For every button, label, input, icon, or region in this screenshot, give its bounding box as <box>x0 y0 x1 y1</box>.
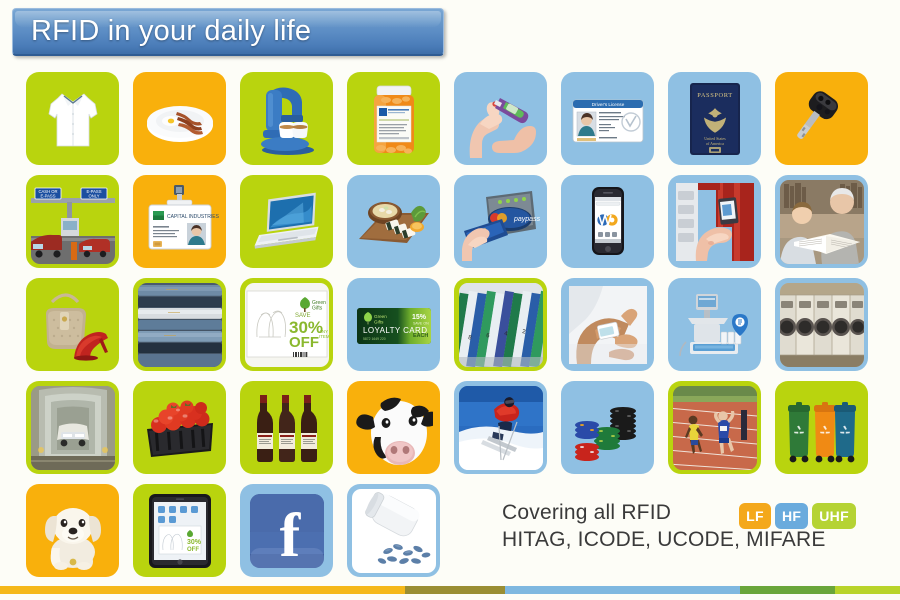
tile-white-dress-shirt[interactable] <box>26 72 119 165</box>
blood-glucose-meter-icon <box>462 80 540 158</box>
frequency-badge-row: LF HF UHF <box>739 503 856 529</box>
tile-laundromat-washers[interactable] <box>775 278 868 371</box>
passport-booklet-icon: PASSPORT United States of America <box>676 80 754 158</box>
phone-transit-gate-icon <box>676 183 754 261</box>
svg-text:30%: 30% <box>187 539 202 546</box>
tile-nfc-smartphone[interactable] <box>561 175 654 268</box>
handbag-and-heel-icon <box>34 286 112 364</box>
tile-patient-wristband[interactable] <box>561 278 654 371</box>
svg-text:OFF: OFF <box>289 334 319 351</box>
recycling-wheelie-bins-icon <box>783 389 861 467</box>
tile-facebook-logo[interactable]: f <box>240 484 333 577</box>
automatic-car-wash-photo <box>31 386 115 470</box>
tile-tomato-produce-crate[interactable] <box>133 381 226 474</box>
lab-reader-instrument-icon <box>676 286 754 364</box>
tile-sushi-meal-tray[interactable] <box>347 175 440 268</box>
tile-archive-file-shelving[interactable]: 8 6 4 2 <box>454 278 547 371</box>
tile-contactless-payment-terminal[interactable]: paypass <box>454 175 547 268</box>
tile-casino-chip-stacks[interactable] <box>561 381 654 474</box>
track-race-finish-photo <box>673 386 757 470</box>
puppy-pet-icon <box>34 492 112 570</box>
page-title: RFID in your daily life <box>31 15 311 48</box>
tile-drivers-license-card[interactable]: Driver's License <box>561 72 654 165</box>
svg-text:PASSPORT: PASSPORT <box>697 92 732 99</box>
badge-hf[interactable]: HF <box>775 503 808 529</box>
patient-wristband-icon <box>569 286 647 364</box>
tile-passport-booklet[interactable]: PASSPORT United States of America <box>668 72 761 165</box>
svg-text:f: f <box>279 502 301 570</box>
stripe-segment-lime <box>835 586 900 594</box>
svg-text:of America: of America <box>706 141 724 146</box>
car-key-fob-icon <box>783 80 861 158</box>
white-dress-shirt-icon <box>34 80 112 158</box>
coffee-pod-machine-icon <box>248 80 326 158</box>
archive-file-shelving-photo: 8 6 4 2 <box>459 283 543 367</box>
svg-text:Gifts: Gifts <box>374 319 384 324</box>
svg-text:5872 1649 220: 5872 1649 220 <box>363 337 386 341</box>
svg-text:Driver's License: Driver's License <box>591 102 624 107</box>
svg-text:EACH: EACH <box>413 333 428 339</box>
employee-id-badge-icon: CAPITAL INDUSTRIES <box>141 183 219 261</box>
tile-stacked-jeans[interactable] <box>133 278 226 371</box>
tile-car-key-fob[interactable] <box>775 72 868 165</box>
contactless-payment-terminal-icon: paypass <box>462 183 540 261</box>
bottom-color-stripe <box>0 586 900 594</box>
stripe-segment-green <box>740 586 835 594</box>
svg-text:CAPITAL INDUSTRIES: CAPITAL INDUSTRIES <box>167 214 219 220</box>
downhill-skier-photo <box>459 386 543 470</box>
tile-recycling-wheelie-bins[interactable] <box>775 381 868 474</box>
sushi-meal-tray-icon <box>355 183 433 261</box>
tile-laptop-computer[interactable] <box>240 175 333 268</box>
thirty-percent-off-coupon-image: Green Gifts SAVE 30% OFF ANY ITEM <box>245 283 329 367</box>
svg-text:paypass: paypass <box>513 216 540 223</box>
tile-loyalty-card[interactable]: Green Gifts LOYALTY CARD 15% SAVE ON EAC… <box>347 278 440 371</box>
badge-uhf[interactable]: UHF <box>812 503 856 529</box>
tile-bacon-and-eggs-breakfast[interactable] <box>133 72 226 165</box>
page-title-banner: RFID in your daily life <box>12 8 444 56</box>
tile-prescription-pill-bottle[interactable] <box>347 72 440 165</box>
stripe-segment-blue <box>505 586 740 594</box>
facebook-logo-icon: f <box>248 492 326 570</box>
laundromat-washers-photo <box>780 283 864 367</box>
library-reading-pair-photo <box>780 180 864 264</box>
casino-chip-stacks-icon <box>569 389 647 467</box>
spilled-pill-bottle-photo <box>352 489 436 573</box>
tile-lab-reader-instrument[interactable] <box>668 278 761 371</box>
bacon-and-eggs-breakfast-icon <box>141 80 219 158</box>
stripe-segment-olive <box>405 586 505 594</box>
laptop-computer-icon <box>248 183 326 261</box>
tile-automatic-car-wash[interactable] <box>26 381 119 474</box>
drivers-license-card-icon: Driver's License <box>569 80 647 158</box>
tile-thirty-percent-off-coupon[interactable]: Green Gifts SAVE 30% OFF ANY ITEM <box>240 278 333 371</box>
tile-tablet-device[interactable]: 30% OFF <box>133 484 226 577</box>
wine-bottles-icon <box>248 389 326 467</box>
toll-booth-epass-photo: CASH OR E-PASS E-PASS ONLY <box>31 180 115 264</box>
tile-toll-booth-epass[interactable]: CASH OR E-PASS E-PASS ONLY <box>26 175 119 268</box>
tile-employee-id-badge[interactable]: CAPITAL INDUSTRIES <box>133 175 226 268</box>
tablet-device-icon: 30% OFF <box>141 492 219 570</box>
svg-text:15%: 15% <box>412 314 427 321</box>
tile-wine-bottles[interactable] <box>240 381 333 474</box>
tile-spilled-pill-bottle[interactable] <box>347 484 440 577</box>
nfc-smartphone-icon <box>569 183 647 261</box>
tile-dairy-cow[interactable] <box>347 381 440 474</box>
tile-handbag-and-heel[interactable] <box>26 278 119 371</box>
svg-text:ITEM: ITEM <box>319 334 329 339</box>
stripe-segment-amber <box>0 586 405 594</box>
prescription-pill-bottle-icon <box>355 80 433 158</box>
badge-lf[interactable]: LF <box>739 503 771 529</box>
tile-library-reading-pair[interactable] <box>775 175 868 268</box>
caption-line-protocols: HITAG, ICODE, UCODE, MIFARE <box>502 526 872 553</box>
svg-text:Gifts: Gifts <box>312 305 323 311</box>
tile-track-race-finish[interactable] <box>668 381 761 474</box>
tile-coffee-pod-machine[interactable] <box>240 72 333 165</box>
loyalty-card-icon: Green Gifts LOYALTY CARD 15% SAVE ON EAC… <box>355 286 433 364</box>
svg-text:E-PASS: E-PASS <box>40 193 55 198</box>
svg-text:ONLY: ONLY <box>88 193 99 198</box>
tile-downhill-skier[interactable] <box>454 381 547 474</box>
tomato-produce-crate-icon <box>141 389 219 467</box>
stacked-jeans-photo <box>138 283 222 367</box>
svg-text:SAVE ON: SAVE ON <box>413 321 429 325</box>
svg-text:Green: Green <box>374 314 387 319</box>
tile-puppy-pet[interactable] <box>26 484 119 577</box>
tile-blood-glucose-meter[interactable] <box>454 72 547 165</box>
dairy-cow-icon <box>355 389 433 467</box>
tile-phone-transit-gate[interactable] <box>668 175 761 268</box>
svg-text:OFF: OFF <box>187 547 199 553</box>
